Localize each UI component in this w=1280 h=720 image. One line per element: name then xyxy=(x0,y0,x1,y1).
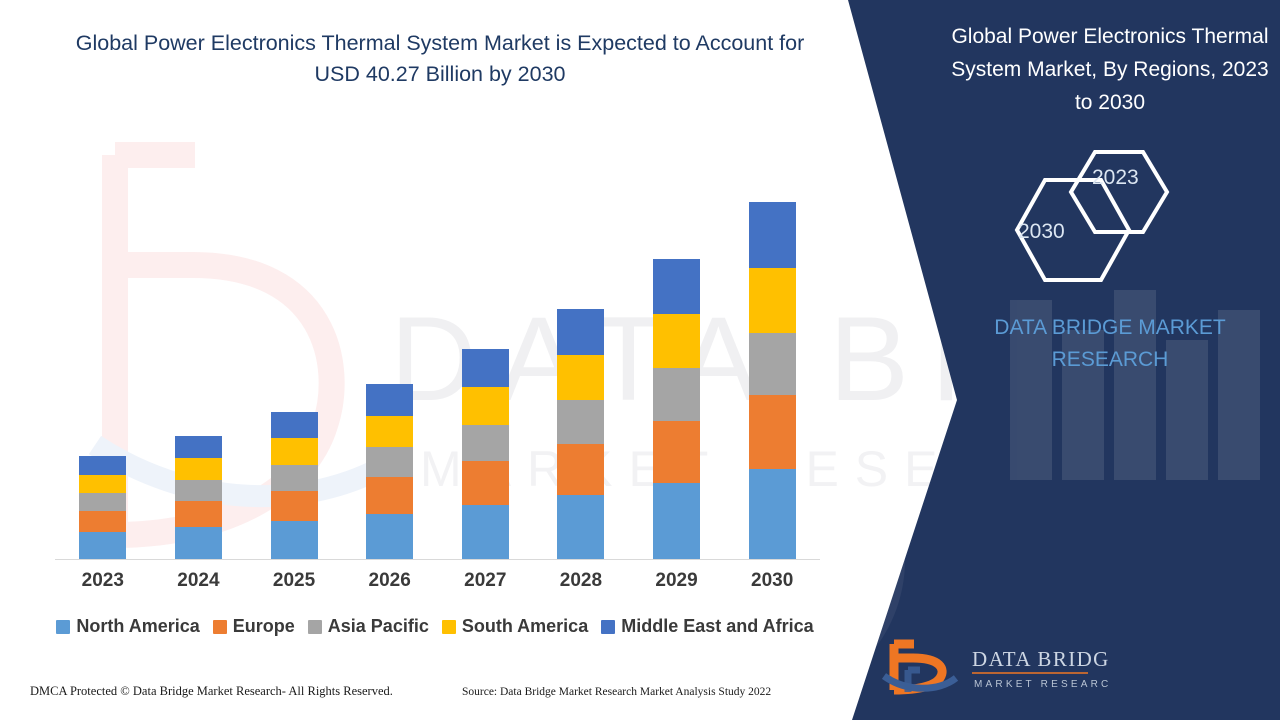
bar-segment-europe xyxy=(366,477,413,513)
bar-segment-south-america xyxy=(79,475,126,494)
bar-segment-asia-pacific xyxy=(271,465,318,491)
bar-segment-asia-pacific xyxy=(79,493,126,511)
bar-2027 xyxy=(462,349,509,560)
bar-segment-europe xyxy=(79,511,126,532)
side-panel-title: Global Power Electronics Thermal System … xyxy=(950,20,1270,119)
bar-segment-europe xyxy=(271,491,318,521)
bar-segment-middle-east-and-africa xyxy=(175,436,222,458)
hexagon-2023-label: 2023 xyxy=(1092,166,1139,190)
bar-segment-north-america xyxy=(749,469,796,560)
footer-dmca-text: DMCA Protected © Data Bridge Market Rese… xyxy=(30,684,393,699)
legend-label: South America xyxy=(462,616,588,637)
plot-area xyxy=(55,150,820,560)
legend-label: Middle East and Africa xyxy=(621,616,813,637)
logo-text-line2: MARKET RESEARCH xyxy=(974,679,1110,690)
x-axis-label-2030: 2030 xyxy=(732,570,812,592)
bar-segment-north-america xyxy=(653,483,700,560)
legend-item-middle-east-and-africa[interactable]: Middle East and Africa xyxy=(601,616,813,637)
bar-2029 xyxy=(653,259,700,560)
bar-2024 xyxy=(175,436,222,560)
bar-2026 xyxy=(366,384,413,560)
data-bridge-logo: DATA BRIDGE MARKET RESEARCH xyxy=(880,636,1110,698)
logo-text-line1: DATA BRIDGE xyxy=(972,647,1110,671)
bar-segment-europe xyxy=(175,501,222,527)
bar-group xyxy=(55,150,820,560)
bar-segment-asia-pacific xyxy=(653,368,700,420)
bar-2025 xyxy=(271,412,318,560)
legend-swatch-icon xyxy=(56,620,70,634)
bar-segment-middle-east-and-africa xyxy=(79,456,126,475)
legend-item-north-america[interactable]: North America xyxy=(56,616,199,637)
x-axis-label-2029: 2029 xyxy=(637,570,717,592)
bar-segment-asia-pacific xyxy=(462,425,509,461)
footer-source-text: Source: Data Bridge Market Research Mark… xyxy=(462,686,771,698)
hexagon-2023-shape xyxy=(1071,152,1167,232)
bar-segment-south-america xyxy=(462,387,509,425)
bar-segment-europe xyxy=(557,444,604,496)
legend-swatch-icon xyxy=(601,620,615,634)
x-axis-label-2024: 2024 xyxy=(158,570,238,592)
bar-segment-middle-east-and-africa xyxy=(366,384,413,416)
legend-item-asia-pacific[interactable]: Asia Pacific xyxy=(308,616,429,637)
x-axis-label-2028: 2028 xyxy=(541,570,621,592)
bar-segment-south-america xyxy=(653,314,700,368)
bar-segment-north-america xyxy=(79,532,126,560)
chart-panel: Global Power Electronics Thermal System … xyxy=(0,0,860,720)
side-panel-brand: DATA BRIDGE MARKET RESEARCH xyxy=(940,312,1280,376)
x-axis-labels: 20232024202520262027202820292030 xyxy=(55,570,820,600)
bar-segment-middle-east-and-africa xyxy=(557,309,604,355)
chart-title: Global Power Electronics Thermal System … xyxy=(70,28,810,90)
bar-segment-south-america xyxy=(366,416,413,447)
bar-segment-europe xyxy=(462,461,509,505)
bar-segment-middle-east-and-africa xyxy=(653,259,700,314)
x-axis-label-2025: 2025 xyxy=(254,570,334,592)
bar-segment-north-america xyxy=(557,495,604,560)
bar-segment-asia-pacific xyxy=(366,447,413,477)
side-panel-brand-line1: DATA BRIDGE MARKET xyxy=(994,316,1225,339)
legend-label: Europe xyxy=(233,616,295,637)
bar-segment-south-america xyxy=(271,438,318,465)
legend-swatch-icon xyxy=(213,620,227,634)
footer: DMCA Protected © Data Bridge Market Rese… xyxy=(0,684,860,708)
bar-segment-north-america xyxy=(271,521,318,560)
bar-segment-middle-east-and-africa xyxy=(749,202,796,268)
side-panel-brand-line2: RESEARCH xyxy=(1052,348,1169,371)
infographic-root: DATA BRIDGE MARKET RESEARCH Global Power… xyxy=(0,0,1280,720)
legend-swatch-icon xyxy=(308,620,322,634)
legend-label: North America xyxy=(76,616,199,637)
bar-2030 xyxy=(749,202,796,560)
bar-segment-asia-pacific xyxy=(557,400,604,444)
bar-segment-south-america xyxy=(557,355,604,400)
x-axis-label-2027: 2027 xyxy=(445,570,525,592)
bar-segment-south-america xyxy=(749,268,796,333)
bar-segment-asia-pacific xyxy=(175,480,222,501)
hexagon-2030-label: 2030 xyxy=(1018,220,1065,244)
bar-segment-europe xyxy=(653,421,700,483)
x-axis-label-2023: 2023 xyxy=(63,570,143,592)
legend-swatch-icon xyxy=(442,620,456,634)
x-axis-label-2026: 2026 xyxy=(350,570,430,592)
bar-segment-asia-pacific xyxy=(749,333,796,395)
chart-legend: North AmericaEuropeAsia PacificSouth Ame… xyxy=(40,616,830,637)
legend-item-europe[interactable]: Europe xyxy=(213,616,295,637)
bar-2028 xyxy=(557,309,604,560)
legend-item-south-america[interactable]: South America xyxy=(442,616,588,637)
bar-segment-middle-east-and-africa xyxy=(462,349,509,387)
bar-segment-north-america xyxy=(366,514,413,560)
bar-segment-north-america xyxy=(462,505,509,560)
side-panel-content: Global Power Electronics Thermal System … xyxy=(940,0,1280,720)
bar-2023 xyxy=(79,456,126,560)
bar-segment-europe xyxy=(749,395,796,469)
legend-label: Asia Pacific xyxy=(328,616,429,637)
x-axis-line xyxy=(55,559,820,560)
bar-segment-south-america xyxy=(175,458,222,480)
bar-segment-middle-east-and-africa xyxy=(271,412,318,439)
bar-segment-north-america xyxy=(175,527,222,560)
